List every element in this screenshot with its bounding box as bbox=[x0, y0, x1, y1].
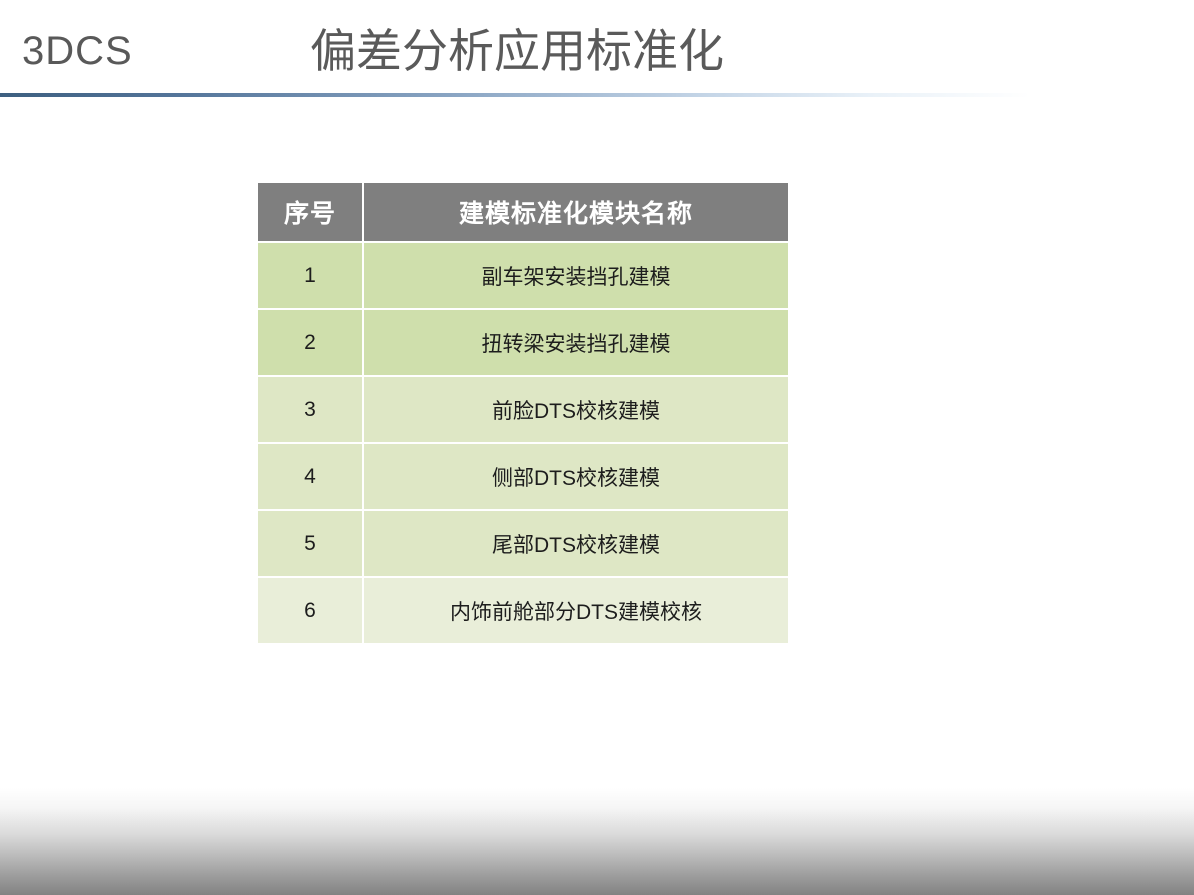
slide-title: 偏差分析应用标准化 bbox=[310, 22, 724, 80]
cell-index: 2 bbox=[258, 310, 362, 375]
slide-footer-band bbox=[0, 788, 1194, 895]
column-header-index: 序号 bbox=[258, 183, 362, 241]
table-row: 2 扭转梁安装挡孔建模 bbox=[258, 310, 788, 375]
brand-logo: 3DCS bbox=[22, 27, 133, 75]
table-body: 1 副车架安装挡孔建模 2 扭转梁安装挡孔建模 3 前脸DTS校核建模 4 侧部… bbox=[258, 243, 788, 643]
cell-name: 尾部DTS校核建模 bbox=[364, 511, 788, 576]
table-header-row: 序号 建模标准化模块名称 bbox=[258, 183, 788, 241]
slide-header: 3DCS 偏差分析应用标准化 bbox=[0, 0, 1194, 97]
table-row: 1 副车架安装挡孔建模 bbox=[258, 243, 788, 308]
cell-name: 内饰前舱部分DTS建模校核 bbox=[364, 578, 788, 643]
cell-index: 1 bbox=[258, 243, 362, 308]
table-row: 6 内饰前舱部分DTS建模校核 bbox=[258, 578, 788, 643]
header-divider-rule bbox=[0, 93, 1194, 97]
cell-name: 侧部DTS校核建模 bbox=[364, 444, 788, 509]
table-row: 4 侧部DTS校核建模 bbox=[258, 444, 788, 509]
cell-index: 4 bbox=[258, 444, 362, 509]
standardization-module-table: 序号 建模标准化模块名称 1 副车架安装挡孔建模 2 扭转梁安装挡孔建模 3 前… bbox=[256, 181, 790, 645]
column-header-name: 建模标准化模块名称 bbox=[364, 183, 788, 241]
cell-index: 6 bbox=[258, 578, 362, 643]
table-header: 序号 建模标准化模块名称 bbox=[258, 183, 788, 241]
cell-name: 扭转梁安装挡孔建模 bbox=[364, 310, 788, 375]
table-row: 5 尾部DTS校核建模 bbox=[258, 511, 788, 576]
cell-name: 副车架安装挡孔建模 bbox=[364, 243, 788, 308]
cell-index: 5 bbox=[258, 511, 362, 576]
cell-index: 3 bbox=[258, 377, 362, 442]
table-row: 3 前脸DTS校核建模 bbox=[258, 377, 788, 442]
cell-name: 前脸DTS校核建模 bbox=[364, 377, 788, 442]
